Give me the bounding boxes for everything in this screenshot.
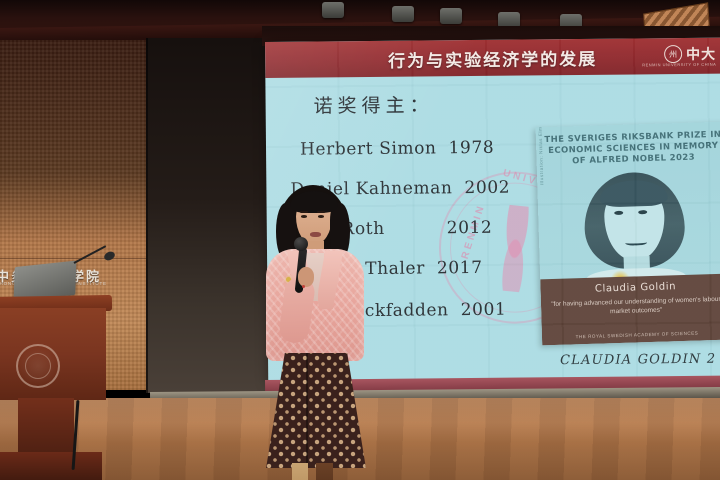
university-seal-icon: 州 xyxy=(664,45,682,63)
poster-laureate-name: Claudia Goldin xyxy=(540,280,720,297)
podium-base xyxy=(0,452,102,480)
stage-light-2 xyxy=(392,6,414,22)
microphone-head-icon xyxy=(294,237,308,251)
lecture-hall-photo: 中炎通工程学院 ZHONGYUAN ENGINEERING INSTITUTE … xyxy=(0,0,720,480)
podium-emblem-icon xyxy=(16,344,60,388)
poster-heading: THE SVERIGES RIKSBANK PRIZE IN ECONOMIC … xyxy=(542,130,720,169)
laureate-name: Herbert Simon xyxy=(300,138,437,159)
stage-light-3 xyxy=(440,8,462,24)
presenter-skirt-fold xyxy=(306,353,308,465)
university-name-english: RENMIN UNIVERSITY OF CHINA xyxy=(642,62,716,68)
nobel-poster: THE SVERIGES RIKSBANK PRIZE IN ECONOMIC … xyxy=(536,122,720,346)
poster-citation: "for having advanced our understanding o… xyxy=(541,295,720,319)
poster-illustration-credit: Illustration: Niklas Elmehed xyxy=(537,122,544,186)
slide-title-band: 行为与实验经济学的发展 州 中大 RENMIN UNIVERSITY OF CH… xyxy=(265,38,720,78)
wall-seam xyxy=(0,258,150,259)
watermark-glyph-icon xyxy=(491,204,539,293)
presenter-hand xyxy=(298,267,314,287)
poster-caption: CLAUDIA GOLDIN 2 xyxy=(560,352,716,368)
poster-footer: Claudia Goldin "for having advanced our … xyxy=(540,274,720,346)
slide-title: 行为与实验经济学的发展 xyxy=(388,44,597,71)
poster-organization: THE ROYAL SWEDISH ACADEMY OF SCIENCES xyxy=(542,330,720,341)
presenter-skirt xyxy=(264,353,368,468)
laureate-year: 1978 xyxy=(448,138,494,158)
presenter xyxy=(240,185,390,480)
stage-light-1 xyxy=(322,2,344,18)
laureate-year: 2001 xyxy=(461,300,507,320)
laureate-portrait-illustration xyxy=(577,171,693,292)
laureate-year: 2012 xyxy=(447,218,493,238)
presenter-leg-right xyxy=(316,463,333,480)
podium-column xyxy=(18,398,74,456)
laureate-row: Herbert Simon 1978 xyxy=(300,138,494,160)
presenter-brow-right xyxy=(317,211,325,213)
microphone-led-icon xyxy=(302,285,305,288)
presenter-brow-left xyxy=(300,211,308,213)
laureate-year: 2017 xyxy=(437,258,483,278)
presenter-mouth xyxy=(310,232,321,237)
presenter-leg-left xyxy=(292,463,308,480)
laureate-year: 2002 xyxy=(464,178,510,198)
presenter-eye-left xyxy=(301,215,307,218)
presenter-eye-right xyxy=(318,215,324,218)
slide-lead-label: 诺奖得主： xyxy=(313,90,433,118)
